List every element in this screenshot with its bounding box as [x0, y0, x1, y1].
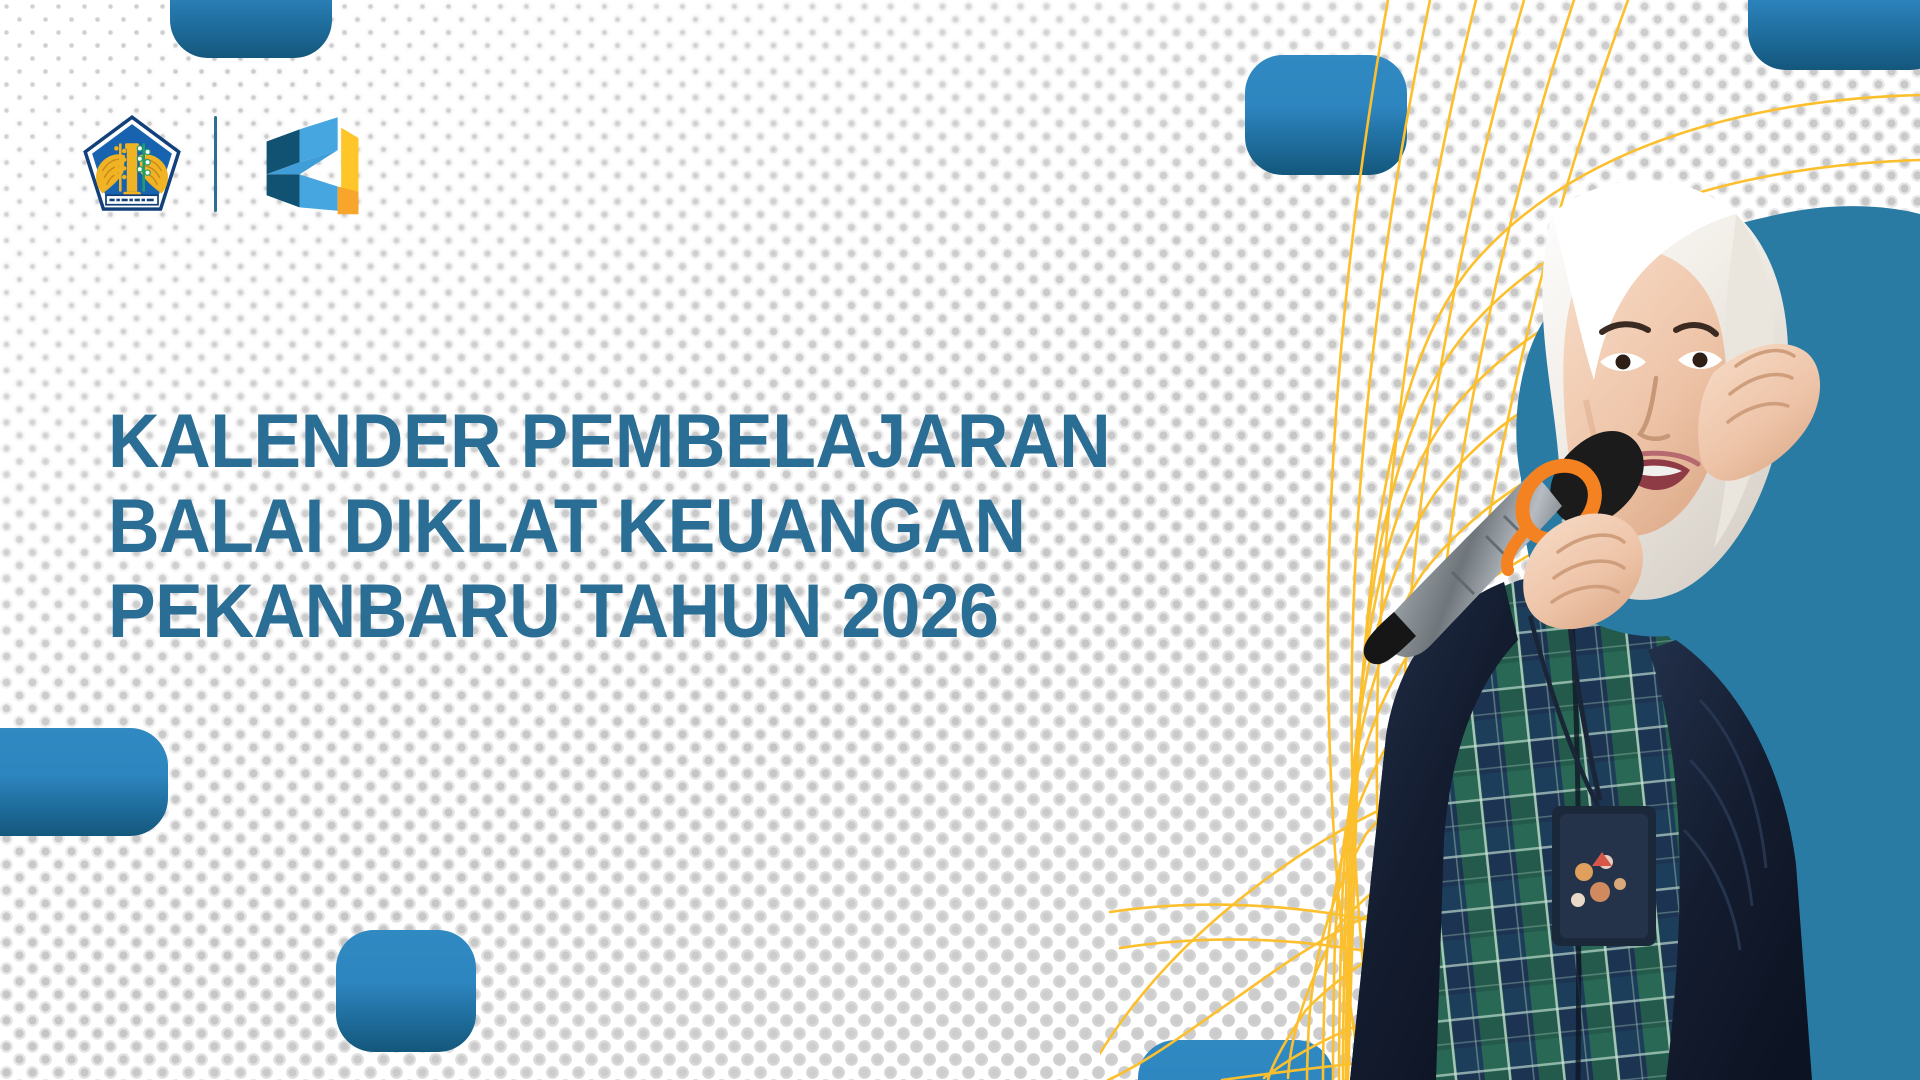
vertical-divider-icon	[214, 116, 217, 212]
rounded-rect-top-left	[170, 0, 332, 58]
logo-lockup	[80, 112, 359, 216]
headline-line-3: PEKANBARU TAHUN 2026	[108, 569, 1123, 654]
rounded-rect-bottom-left	[336, 930, 476, 1052]
bppk-hexagon-mark-icon	[247, 112, 359, 216]
headline-line-2: BALAI DIKLAT KEUANGAN	[108, 484, 1123, 569]
rounded-rect-left-mid	[0, 728, 168, 836]
kemenkeu-pentagon-seal-icon	[80, 112, 184, 216]
page-title: KALENDER PEMBELAJARAN BALAI DIKLAT KEUAN…	[108, 399, 1123, 654]
speaker-photo	[1100, 0, 1920, 1080]
right-artwork	[1100, 0, 1920, 1080]
slide-root: KALENDER PEMBELAJARAN BALAI DIKLAT KEUAN…	[0, 0, 1920, 1080]
headline-line-1: KALENDER PEMBELAJARAN	[108, 399, 1123, 484]
